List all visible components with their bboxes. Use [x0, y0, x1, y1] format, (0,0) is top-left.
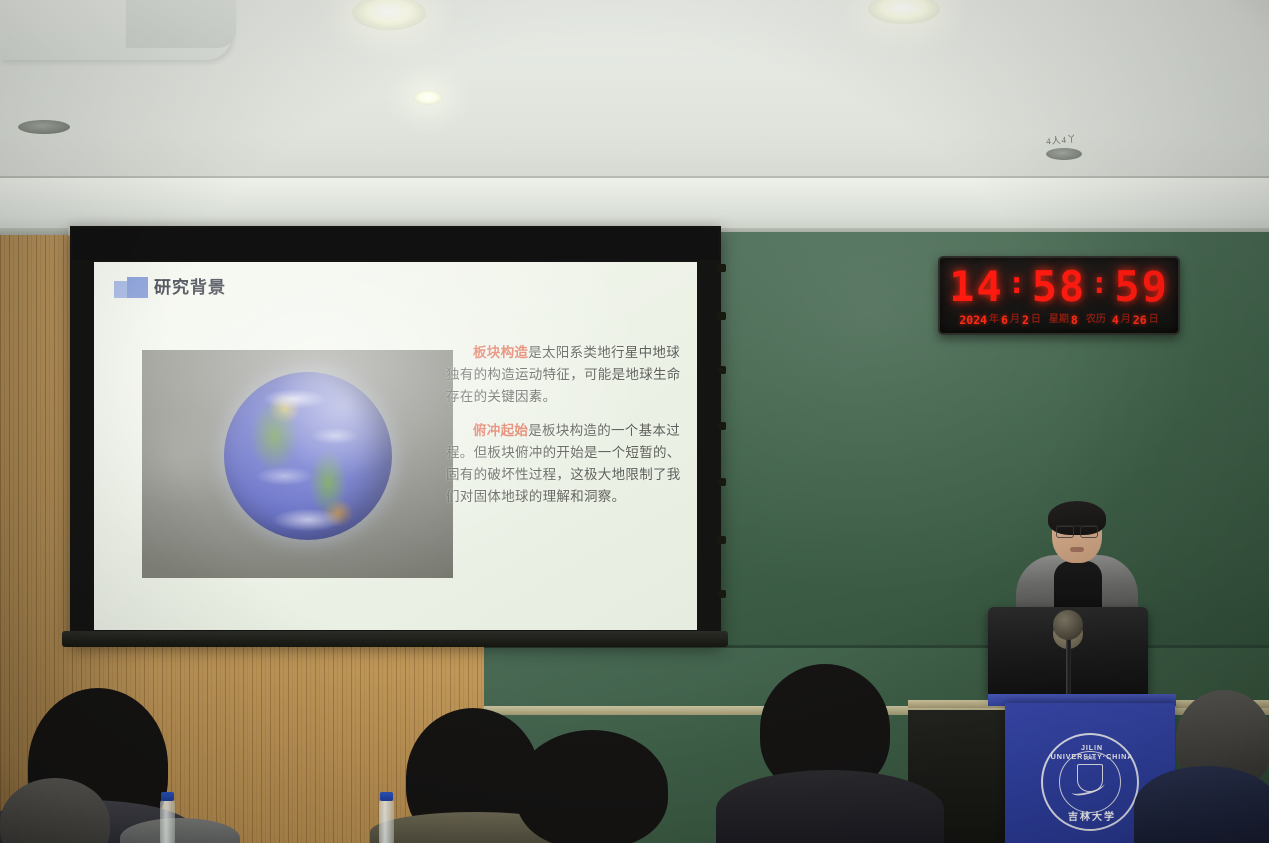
clock-separator-2: : [1086, 259, 1114, 309]
audience-shoulder-5 [716, 770, 944, 843]
slide-body-text: 板块构造是太阳系类地行星中地球独有的构造运动特征，可能是地球生命存在的关键因素。… [446, 342, 682, 520]
presenter-mouth [1070, 547, 1084, 552]
water-bottle-2[interactable] [379, 800, 394, 843]
clock-separator-1: : [1004, 259, 1032, 309]
slide-earth-image [142, 350, 453, 578]
screen-hook-2 [717, 312, 726, 320]
slide-paragraph-1: 板块构造是太阳系类地行星中地球独有的构造运动特征，可能是地球生命存在的关键因素。 [446, 342, 682, 408]
screen-hook-1 [717, 264, 726, 272]
screen-hook-4 [717, 422, 726, 430]
slide-title: 研究背景 [154, 278, 226, 298]
audience-head-4 [516, 730, 668, 843]
clock-day: 2 [1022, 312, 1029, 328]
projection-screen[interactable]: 研究背景 板块构造是太阳系类地行星中地球独有的构造运动特征，可能是地球生命存在的… [70, 226, 721, 643]
clock-time-display: 14 : 58 : 59 [946, 262, 1172, 312]
lecture-hall-photo: 4人4丫 研究背景 [0, 0, 1269, 843]
ceiling-downlight-2 [868, 0, 940, 24]
sprinkler-head [1046, 148, 1082, 160]
clock-seconds: 59 [1114, 262, 1169, 312]
ceiling-vent-left [18, 120, 70, 134]
seal-year: 1946 [1083, 756, 1096, 762]
water-bottle-1[interactable] [160, 800, 175, 843]
screen-hook-6 [717, 536, 726, 544]
earth-globe-icon [224, 372, 392, 540]
screen-weight-bar [62, 631, 728, 647]
ceiling-soffit-secondary [126, 0, 236, 48]
clock-lunar-month: 4 [1112, 312, 1119, 328]
ceiling-downlight-3 [413, 91, 443, 105]
jilin-university-seal-icon: JILIN UNIVERSITY·CHINA 1946 吉林大学 [1041, 733, 1139, 831]
screen-hook-3 [717, 366, 726, 374]
clock-weekday-label: 星期 [1049, 312, 1069, 328]
presentation-slide[interactable]: 研究背景 板块构造是太阳系类地行星中地球独有的构造运动特征，可能是地球生命存在的… [94, 262, 697, 630]
clock-day-unit: 日 [1031, 312, 1041, 328]
screen-hook-5 [717, 478, 726, 486]
globe-clouds [224, 372, 392, 540]
seal-inner-ring: 1946 [1059, 751, 1121, 813]
audience-shoulder-6 [1134, 766, 1269, 843]
microphone-icon[interactable] [1053, 610, 1083, 640]
clock-date-display: 2024 年 6 月 2 日 星期 8 农历 4 月 26 日 [946, 312, 1172, 328]
ceiling-downlight-1 [352, 0, 426, 30]
slide-keyword-1: 板块构造 [473, 345, 528, 361]
ceiling: 4人4丫 [0, 0, 1269, 232]
ceiling-sprinkler-label: 4人4丫 [1045, 132, 1077, 148]
clock-month-unit: 月 [1010, 312, 1020, 328]
slide-keyword-2: 俯冲起始 [473, 423, 528, 439]
clock-month: 6 [1001, 312, 1008, 328]
digital-wall-clock: 14 : 58 : 59 2024 年 6 月 2 日 星期 8 农历 4 月 … [938, 256, 1180, 335]
clock-year: 2024 [959, 312, 987, 328]
clock-lunar-label: 农历 [1086, 312, 1106, 328]
seal-text-bottom: 吉林大学 [1043, 808, 1141, 823]
clock-hours: 14 [949, 262, 1004, 312]
slide-paragraph-2: 俯冲起始是板块构造的一个基本过程。但板块俯冲的开始是一个短暂的、固有的破坏性过程… [446, 420, 682, 508]
slide-title-group: 研究背景 [114, 277, 226, 298]
clock-lunar-month-unit: 月 [1121, 312, 1131, 328]
clock-weekday-value: 8 [1071, 312, 1078, 328]
screen-masking-top [72, 228, 719, 260]
presenter [1028, 505, 1126, 615]
clock-lunar-day-unit: 日 [1149, 312, 1159, 328]
bottle-cap-1 [161, 792, 174, 801]
glasses-icon [1056, 525, 1098, 534]
clock-minutes: 58 [1032, 262, 1087, 312]
screen-hook-7 [717, 590, 726, 598]
bottle-cap-2 [380, 792, 393, 801]
square-accent-dark-icon [127, 277, 148, 298]
clock-lunar-day: 26 [1133, 312, 1147, 328]
clock-year-unit: 年 [989, 312, 999, 328]
seal-bird-icon [1070, 779, 1106, 798]
